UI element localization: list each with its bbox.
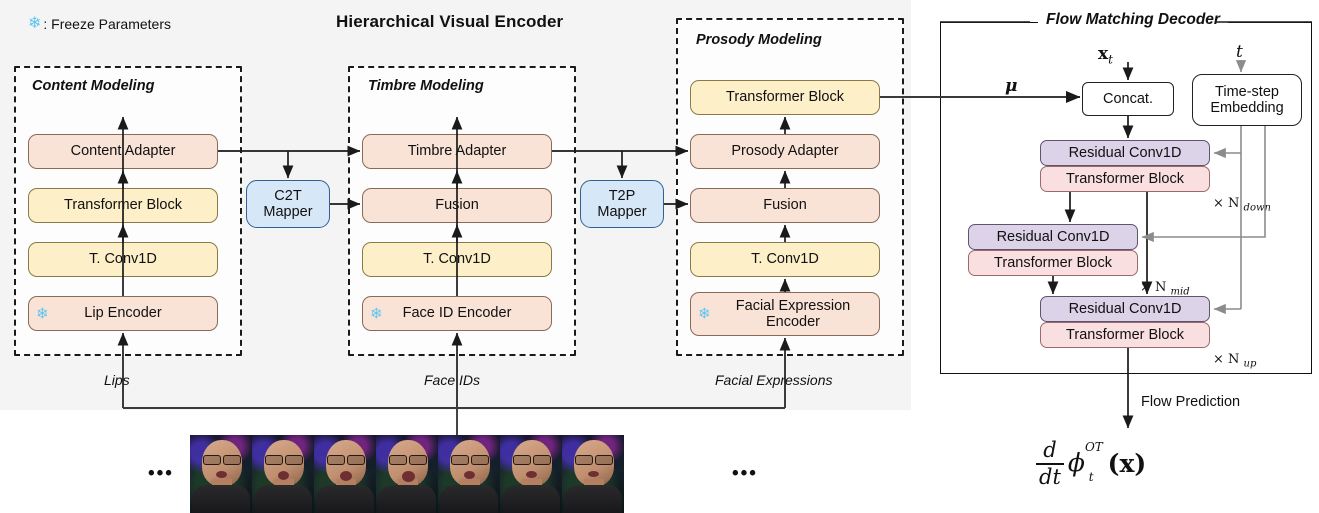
node-label: Face ID Encoder <box>403 305 512 321</box>
video-frame <box>314 435 376 513</box>
timestep-line1: Time-step <box>1215 84 1279 100</box>
video-frame <box>252 435 314 513</box>
node-label: Facial Expression Encoder <box>707 298 879 330</box>
mapper-line1: C2T <box>274 188 301 204</box>
video-frame <box>438 435 500 513</box>
snowflake-icon: ❄ <box>28 16 41 32</box>
timestep-line2: Embedding <box>1210 100 1283 116</box>
mapper-line2: Mapper <box>263 204 312 220</box>
node-content-tconv1d[interactable]: T. Conv1D <box>28 242 218 277</box>
node-label: T. Conv1D <box>423 251 491 267</box>
node-prosody-adapter[interactable]: Prosody Adapter <box>690 134 880 169</box>
label-x-t: xt <box>1098 44 1113 66</box>
formula-sub: t <box>1089 470 1094 484</box>
node-label: T. Conv1D <box>89 251 157 267</box>
decoder-title: Flow Matching Decoder <box>1038 11 1228 29</box>
video-frame <box>376 435 438 513</box>
diagram-root: ❄ : Freeze Parameters Hierarchical Visua… <box>0 0 1319 513</box>
node-timestep-embedding[interactable]: Time-step Embedding <box>1192 74 1302 126</box>
node-prosody-transformer-block[interactable]: Transformer Block <box>690 80 880 115</box>
formula-arg: (x) <box>1108 449 1147 478</box>
node-label: Content Adapter <box>71 143 176 159</box>
node-label: T. Conv1D <box>751 251 819 267</box>
node-label: Residual Conv1D <box>1069 145 1182 161</box>
node-label: Fusion <box>763 197 807 213</box>
snowflake-icon: ❄ <box>370 306 383 321</box>
video-frame <box>500 435 562 513</box>
input-label-facial-expressions: Facial Expressions <box>715 372 833 388</box>
group-title-timbre-modeling: Timbre Modeling <box>368 78 484 94</box>
freeze-legend: ❄ : Freeze Parameters <box>28 16 171 32</box>
node-facial-expression-encoder[interactable]: ❄ Facial Expression Encoder <box>690 292 880 336</box>
node-label: Transformer Block <box>994 255 1112 271</box>
node-label: Concat. <box>1103 91 1153 107</box>
label-t: t <box>1236 42 1243 62</box>
node-label: Fusion <box>435 197 479 213</box>
ellipsis-left: ••• <box>148 463 174 485</box>
repeat-label-nmid: × N mid <box>1140 280 1190 298</box>
flow-prediction-label: Flow Prediction <box>1141 394 1240 410</box>
node-label: Transformer Block <box>726 89 844 105</box>
mapper-line1: T2P <box>609 188 636 204</box>
node-transformer-block-down[interactable]: Transformer Block <box>1040 166 1210 192</box>
node-content-transformer-block[interactable]: Transformer Block <box>28 188 218 223</box>
node-residual-conv1d-down[interactable]: Residual Conv1D <box>1040 140 1210 166</box>
node-timbre-fusion[interactable]: Fusion <box>362 188 552 223</box>
node-label: Residual Conv1D <box>997 229 1110 245</box>
node-timbre-adapter[interactable]: Timbre Adapter <box>362 134 552 169</box>
formula-phi: ϕ <box>1068 448 1085 477</box>
snowflake-icon: ❄ <box>698 307 711 322</box>
node-label: Transformer Block <box>1066 327 1184 343</box>
node-content-adapter[interactable]: Content Adapter <box>28 134 218 169</box>
node-concat[interactable]: Concat. <box>1082 82 1174 116</box>
page-title: Hierarchical Visual Encoder <box>336 12 563 32</box>
group-title-prosody-modeling: Prosody Modeling <box>696 32 822 48</box>
repeat-label-ndown: × N down <box>1213 196 1271 214</box>
node-label: Timbre Adapter <box>408 143 507 159</box>
node-timbre-tconv1d[interactable]: T. Conv1D <box>362 242 552 277</box>
node-face-id-encoder[interactable]: ❄ Face ID Encoder <box>362 296 552 331</box>
snowflake-icon: ❄ <box>36 306 49 321</box>
mapper-line2: Mapper <box>597 204 646 220</box>
node-prosody-fusion[interactable]: Fusion <box>690 188 880 223</box>
formula-sup: OT <box>1085 440 1103 454</box>
node-residual-conv1d-up[interactable]: Residual Conv1D <box>1040 296 1210 322</box>
node-c2t-mapper[interactable]: C2T Mapper <box>246 180 330 228</box>
freeze-legend-label: : Freeze Parameters <box>43 16 171 32</box>
node-label: Transformer Block <box>1066 171 1184 187</box>
group-title-content-modeling: Content Modeling <box>32 78 154 94</box>
formula-denominator: dt <box>1036 465 1064 488</box>
node-label: Prosody Adapter <box>731 143 838 159</box>
formula-numerator: d <box>1040 440 1059 463</box>
label-mu: μ <box>1005 76 1017 96</box>
repeat-label-nup: × N up <box>1213 352 1256 370</box>
node-lip-encoder[interactable]: ❄ Lip Encoder <box>28 296 218 331</box>
input-label-face-ids: Face IDs <box>424 372 480 388</box>
node-residual-conv1d-mid[interactable]: Residual Conv1D <box>968 224 1138 250</box>
video-frame <box>562 435 624 513</box>
node-label: Residual Conv1D <box>1069 301 1182 317</box>
video-filmstrip <box>190 435 624 513</box>
node-t2p-mapper[interactable]: T2P Mapper <box>580 180 664 228</box>
node-transformer-block-up[interactable]: Transformer Block <box>1040 322 1210 348</box>
video-frame <box>190 435 252 513</box>
node-transformer-block-mid[interactable]: Transformer Block <box>968 250 1138 276</box>
node-label: Transformer Block <box>64 197 182 213</box>
input-label-lips: Lips <box>104 372 130 388</box>
ellipsis-right: ••• <box>732 463 758 485</box>
node-prosody-tconv1d[interactable]: T. Conv1D <box>690 242 880 277</box>
flow-formula: d dt ϕOTt (x) <box>1036 440 1146 488</box>
node-label: Lip Encoder <box>84 305 161 321</box>
